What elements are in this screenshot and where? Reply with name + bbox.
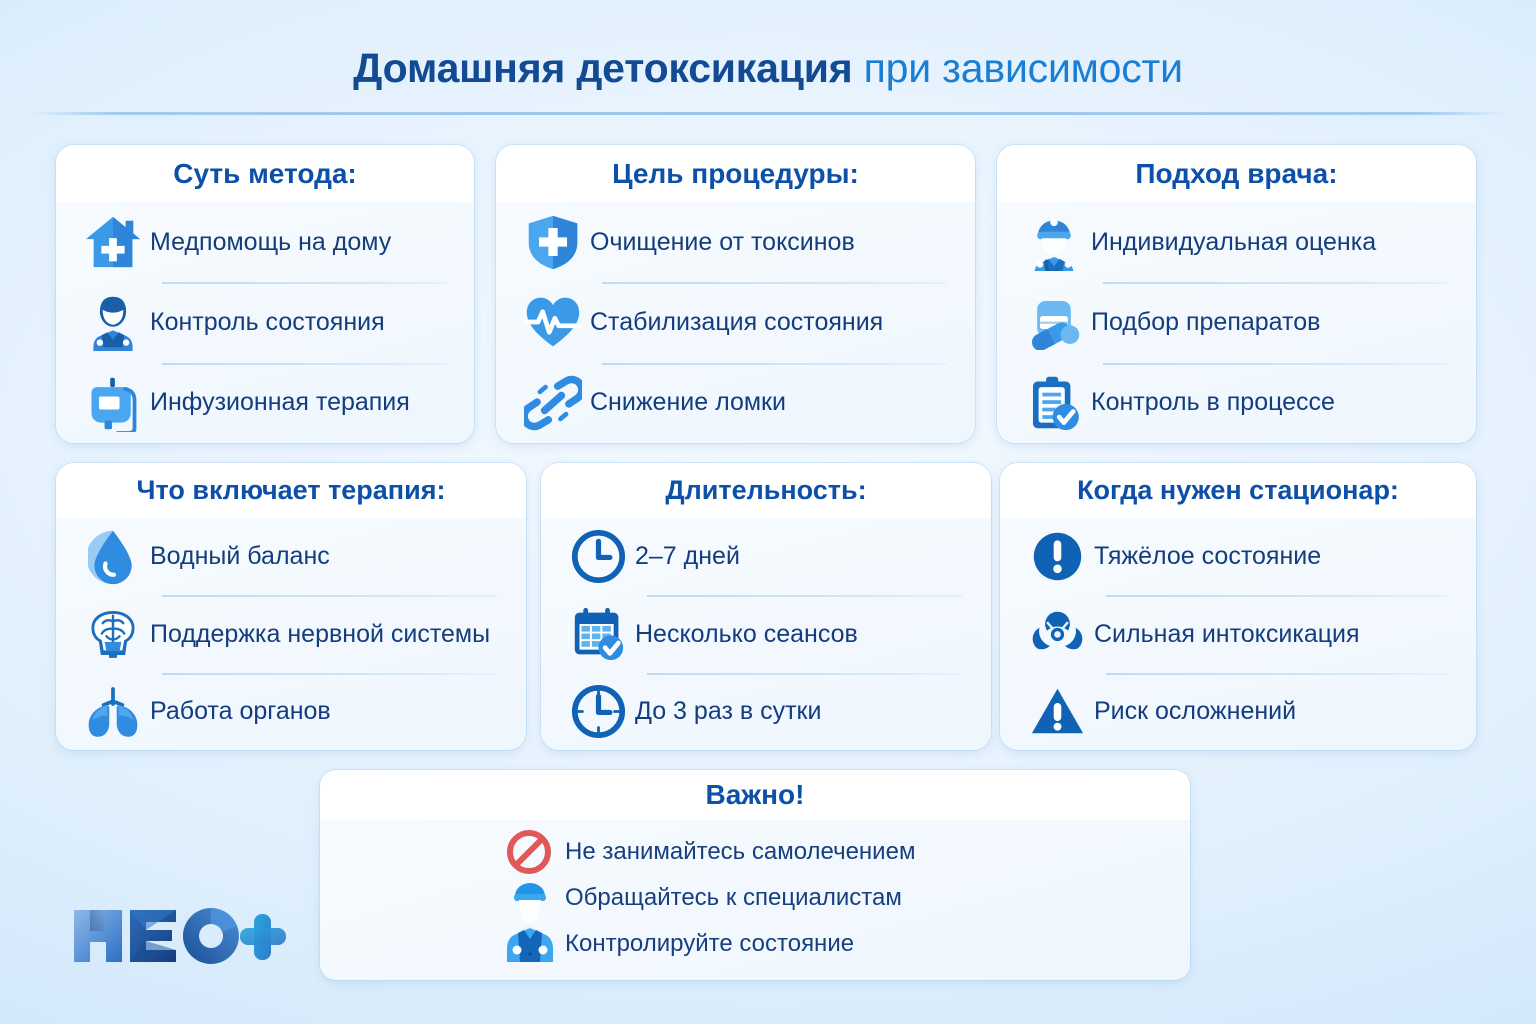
- water-drop-icon: [76, 525, 150, 589]
- logo-neo-plus: [68, 896, 288, 970]
- title-divider: [28, 112, 1508, 115]
- list-item: Тяжёлое состояние: [1020, 518, 1454, 595]
- card-0: Суть метода:Медпомощь на домуКонтроль со…: [56, 145, 474, 443]
- list-item: Поддержка нервной системы: [76, 595, 504, 672]
- list-item-label: Водный баланс: [150, 542, 330, 571]
- page-title: Домашняя детоксикация при зависимости: [0, 38, 1536, 100]
- important-row: Контролируйте состояние: [320, 921, 1190, 967]
- card-header: Когда нужен стационар:: [1000, 463, 1476, 518]
- list-item-label: Индивидуальная оценка: [1091, 228, 1376, 257]
- calendar-check-icon: [561, 602, 635, 666]
- list-item-label: Снижение ломки: [590, 388, 786, 417]
- page-title-light: при зависимости: [852, 45, 1182, 91]
- doctor-person-icon: [76, 290, 150, 354]
- card-body: 2–7 днейНесколько сеансовДо 3 раз в сутк…: [541, 518, 991, 750]
- exclamation-circle-icon: [1020, 525, 1094, 589]
- list-item: Снижение ломки: [516, 363, 953, 443]
- important-row: Обращайтесь к специалистам: [320, 875, 1190, 921]
- card-1: Цель процедуры:Очищение от токсиновСтаби…: [496, 145, 975, 443]
- important-row: Не занимайтесь самолечением: [320, 829, 1190, 875]
- card-body: Индивидуальная оценкаПодбор препаратовКо…: [997, 202, 1476, 443]
- list-item: Медпомощь на дому: [76, 202, 452, 282]
- list-item: Контроль состояния: [76, 282, 452, 362]
- list-item-label: Риск осложнений: [1094, 697, 1296, 726]
- card-header: Суть метода:: [56, 145, 474, 202]
- card-important-header: Важно!: [320, 770, 1190, 820]
- list-item: Очищение от токсинов: [516, 202, 953, 282]
- list-item-label: До 3 раз в сутки: [635, 697, 821, 726]
- card-4: Длительность:2–7 днейНесколько сеансовДо…: [541, 463, 991, 750]
- house-medical-icon: [76, 210, 150, 274]
- important-label: Контролируйте состояние: [565, 930, 854, 958]
- card-important: Важно! Не занимайтесь самолечением: [320, 770, 1190, 980]
- clock-icon: [561, 525, 635, 589]
- biohazard-icon: [1020, 602, 1094, 666]
- pills-capsule-icon: [1017, 290, 1091, 354]
- list-item-label: Контроль состояния: [150, 308, 385, 337]
- list-item: Контроль в процессе: [1017, 363, 1454, 443]
- list-item: Сильная интоксикация: [1020, 595, 1454, 672]
- card-header: Подход врача:: [997, 145, 1476, 202]
- list-item-label: Работа органов: [150, 697, 331, 726]
- list-item-label: Несколько сеансов: [635, 620, 858, 649]
- card-3: Что включает терапия:Водный балансПоддер…: [56, 463, 526, 750]
- card-body: Тяжёлое состояниеСильная интоксикацияРис…: [1000, 518, 1476, 750]
- list-item: Риск осложнений: [1020, 673, 1454, 750]
- card-header: Цель процедуры:: [496, 145, 975, 202]
- page-title-strong: Домашняя детоксикация: [353, 45, 852, 91]
- clipboard-check-icon: [1017, 371, 1091, 435]
- important-label: Обращайтесь к специалистам: [565, 884, 902, 912]
- list-item-label: Поддержка нервной системы: [150, 620, 490, 649]
- shield-cross-icon: [516, 210, 590, 274]
- clock-ticks-icon: [561, 679, 635, 743]
- list-item-label: Подбор препаратов: [1091, 308, 1320, 337]
- doctor-stethoscope-icon: [1017, 210, 1091, 274]
- list-item-label: Инфузионная терапия: [150, 388, 410, 417]
- list-item: Работа органов: [76, 673, 504, 750]
- card-body: Водный балансПоддержка нервной системыРа…: [56, 518, 526, 750]
- list-item-label: Медпомощь на дому: [150, 228, 391, 257]
- list-item: Водный баланс: [76, 518, 504, 595]
- card-body: Медпомощь на домуКонтроль состоянияИнфуз…: [56, 202, 474, 443]
- iv-drip-icon: [76, 371, 150, 435]
- card-header: Что включает терапия:: [56, 463, 526, 518]
- list-item-label: Контроль в процессе: [1091, 388, 1335, 417]
- list-item: Стабилизация состояния: [516, 282, 953, 362]
- card-2: Подход врача:Индивидуальная оценкаПодбор…: [997, 145, 1476, 443]
- list-item-label: 2–7 дней: [635, 542, 740, 571]
- list-item: 2–7 дней: [561, 518, 969, 595]
- card-header: Длительность:: [541, 463, 991, 518]
- lungs-icon: [76, 679, 150, 743]
- list-item-label: Сильная интоксикация: [1094, 620, 1360, 649]
- list-item: Подбор препаратов: [1017, 282, 1454, 362]
- broken-chain-icon: [516, 371, 590, 435]
- list-item: Несколько сеансов: [561, 595, 969, 672]
- important-label: Не занимайтесь самолечением: [565, 838, 915, 866]
- card-body: Очищение от токсиновСтабилизация состоян…: [496, 202, 975, 443]
- list-item: Инфузионная терапия: [76, 363, 452, 443]
- card-5: Когда нужен стационар:Тяжёлое состояниеС…: [1000, 463, 1476, 750]
- list-item-label: Тяжёлое состояние: [1094, 542, 1321, 571]
- list-item: Индивидуальная оценка: [1017, 202, 1454, 282]
- card-important-body: Не занимайтесь самолечением Обращайтесь …: [320, 820, 1190, 980]
- list-item: До 3 раз в сутки: [561, 673, 969, 750]
- warning-triangle-icon: [1020, 679, 1094, 743]
- heart-pulse-icon: [516, 290, 590, 354]
- brain-icon: [76, 602, 150, 666]
- list-item-label: Стабилизация состояния: [590, 308, 883, 337]
- list-item-label: Очищение от токсинов: [590, 228, 855, 257]
